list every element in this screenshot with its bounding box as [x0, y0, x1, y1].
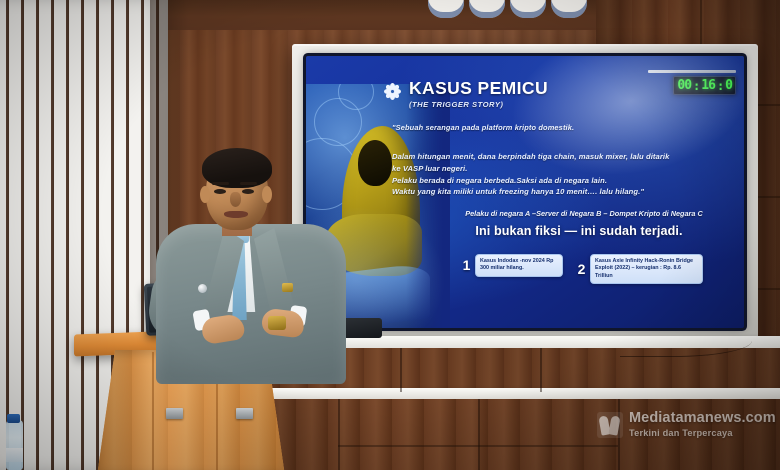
podium-plate-icon [166, 408, 183, 419]
m-monogram-icon [597, 412, 623, 438]
panel-seam [400, 348, 402, 392]
body-line: Pelaku berada di negara berbeda.Saksi ad… [392, 175, 722, 187]
presenter-gold-pin [282, 283, 293, 292]
presenter-ear [262, 186, 272, 203]
timer-top-bar [648, 70, 736, 73]
presenter-lapel-badge [198, 284, 207, 293]
flower-bullet-icon [384, 83, 401, 100]
presenter-hand-gold-object [268, 316, 286, 330]
slide-canvas: 00 : 16 : 0 KASUS PEMICU (THE TRIGGER ST… [306, 56, 744, 328]
case-card: 1 Kasus Indodax -nov 2024 Rp 300 miliar … [458, 254, 563, 277]
slide-body-text: Dalam hitungan menit, dana berpindah tig… [392, 151, 722, 198]
presenter-mouth [224, 211, 248, 218]
watermark-tagline: Terkini dan Terpercaya [629, 428, 776, 438]
timer-separator: : [717, 79, 723, 93]
presenter-ear [200, 186, 210, 203]
slide-quote-opening: "Sebuah serangan pada platform kripto do… [392, 123, 712, 132]
presenter-at-podium [150, 150, 350, 380]
presenter-eye [242, 189, 254, 194]
countdown-timer: 00 : 16 : 0 [673, 76, 736, 95]
podium-plate-icon [236, 408, 253, 419]
case-card-number: 1 [458, 254, 475, 277]
presenter-eyebrow [212, 182, 229, 185]
presenter-nose [230, 192, 241, 207]
timer-hours: 00 [677, 78, 691, 93]
watermark-site: Mediatamanews.com [629, 411, 776, 427]
body-line: Waktu yang kita miliki untuk freezing ha… [392, 186, 722, 198]
presenter-eyebrow [240, 182, 257, 185]
body-line: Dalam hitungan menit, dana berpindah tig… [392, 151, 722, 163]
water-bottle-label [6, 448, 23, 462]
panel-seam [338, 445, 618, 447]
case-card-text: Kasus Axie Infinity Hack-Ronin Bridge Ex… [590, 254, 703, 284]
timer-minutes: 16 [701, 78, 715, 93]
timer-seconds: 0 [725, 78, 732, 93]
photo-stage: 00 : 16 : 0 KASUS PEMICU (THE TRIGGER ST… [0, 0, 780, 470]
case-card-number: 2 [573, 254, 590, 284]
presenter-eye [214, 189, 226, 194]
watermark: Mediatamanews.com Terkini dan Terpercaya [597, 411, 776, 438]
case-card-text: Kasus Indodax -nov 2024 Rp 300 miliar hi… [475, 254, 563, 277]
presentation-screen[interactable]: 00 : 16 : 0 KASUS PEMICU (THE TRIGGER ST… [306, 56, 744, 328]
slide-subtitle: (THE TRIGGER STORY) [409, 100, 548, 109]
slide-case-cards: 1 Kasus Indodax -nov 2024 Rp 300 miliar … [458, 254, 703, 284]
panel-seam [540, 348, 542, 392]
water-bottle-cap [7, 414, 20, 423]
case-card: 2 Kasus Axie Infinity Hack-Ronin Bridge … [573, 254, 703, 284]
panel-seam [338, 399, 340, 470]
panel-seam [478, 399, 480, 470]
slide-header: KASUS PEMICU (THE TRIGGER STORY) [384, 80, 548, 109]
ceiling-logo-panels [415, 0, 600, 18]
water-bottle [6, 420, 23, 470]
timer-separator: : [693, 79, 699, 93]
body-line: ke VASP luar negeri. [392, 163, 722, 175]
slide-title: KASUS PEMICU [409, 80, 548, 98]
slide-punchline: Ini bukan fiksi — ini sudah terjadi. [424, 224, 734, 238]
slide-chain-line: Pelaku di negara A –Server di Negara B –… [434, 209, 734, 218]
